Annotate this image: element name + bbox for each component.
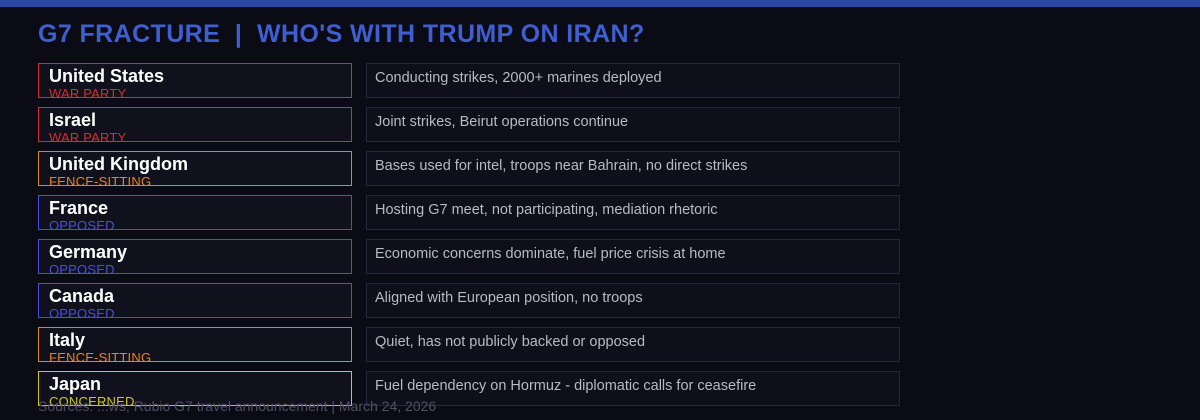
footer-source-note: Sources: ...ws, Rubio G7 travel announce… (38, 398, 436, 414)
top-accent-bar (0, 0, 1200, 7)
status-badge: OPPOSED (49, 218, 115, 230)
country-name: Germany (49, 242, 127, 263)
status-badge: OPPOSED (49, 306, 115, 318)
status-badge: FENCE-SITTING (49, 350, 151, 362)
country-name: Israel (49, 110, 96, 131)
country-detail-box[interactable]: Joint strikes, Beirut operations continu… (366, 107, 900, 142)
country-row: GermanyOPPOSEDEconomic concerns dominate… (0, 239, 1200, 283)
country-name: Italy (49, 330, 85, 351)
status-badge: FENCE-SITTING (49, 174, 151, 186)
country-status-box[interactable]: GermanyOPPOSED (38, 239, 352, 274)
country-detail-text: Fuel dependency on Hormuz - diplomatic c… (375, 377, 835, 395)
country-detail-box[interactable]: Bases used for intel, troops near Bahrai… (366, 151, 900, 186)
country-detail-box[interactable]: Aligned with European position, no troop… (366, 283, 900, 318)
country-detail-text: Joint strikes, Beirut operations continu… (375, 113, 835, 131)
country-status-box[interactable]: CanadaOPPOSED (38, 283, 352, 318)
infographic-canvas: G7 FRACTURE | WHO'S WITH TRUMP ON IRAN? … (0, 0, 1200, 420)
country-detail-text: Economic concerns dominate, fuel price c… (375, 245, 835, 263)
country-detail-box[interactable]: Economic concerns dominate, fuel price c… (366, 239, 900, 274)
country-status-box[interactable]: United StatesWAR PARTY (38, 63, 352, 98)
country-name: Japan (49, 374, 101, 395)
country-detail-text: Bases used for intel, troops near Bahrai… (375, 157, 835, 175)
country-detail-box[interactable]: Conducting strikes, 2000+ marines deploy… (366, 63, 900, 98)
country-name: France (49, 198, 108, 219)
country-name: United States (49, 66, 164, 87)
country-row: United KingdomFENCE-SITTINGBases used fo… (0, 151, 1200, 195)
country-detail-text: Hosting G7 meet, not participating, medi… (375, 201, 835, 219)
country-detail-box[interactable]: Quiet, has not publicly backed or oppose… (366, 327, 900, 362)
country-status-box[interactable]: FranceOPPOSED (38, 195, 352, 230)
country-row: IsraelWAR PARTYJoint strikes, Beirut ope… (0, 107, 1200, 151)
country-row: CanadaOPPOSEDAligned with European posit… (0, 283, 1200, 327)
page-title: G7 FRACTURE | WHO'S WITH TRUMP ON IRAN? (38, 20, 645, 49)
country-status-box[interactable]: IsraelWAR PARTY (38, 107, 352, 142)
country-list: United StatesWAR PARTYConducting strikes… (0, 63, 1200, 415)
country-status-box[interactable]: United KingdomFENCE-SITTING (38, 151, 352, 186)
country-detail-box[interactable]: Hosting G7 meet, not participating, medi… (366, 195, 900, 230)
country-status-box[interactable]: ItalyFENCE-SITTING (38, 327, 352, 362)
country-name: Canada (49, 286, 114, 307)
status-badge: OPPOSED (49, 262, 115, 274)
status-badge: WAR PARTY (49, 130, 126, 142)
country-row: ItalyFENCE-SITTINGQuiet, has not publicl… (0, 327, 1200, 371)
status-badge: WAR PARTY (49, 86, 126, 98)
country-detail-text: Quiet, has not publicly backed or oppose… (375, 333, 835, 351)
country-detail-text: Aligned with European position, no troop… (375, 289, 835, 307)
country-row: FranceOPPOSEDHosting G7 meet, not partic… (0, 195, 1200, 239)
country-detail-box[interactable]: Fuel dependency on Hormuz - diplomatic c… (366, 371, 900, 406)
country-detail-text: Conducting strikes, 2000+ marines deploy… (375, 69, 835, 87)
country-name: United Kingdom (49, 154, 188, 175)
country-row: United StatesWAR PARTYConducting strikes… (0, 63, 1200, 107)
